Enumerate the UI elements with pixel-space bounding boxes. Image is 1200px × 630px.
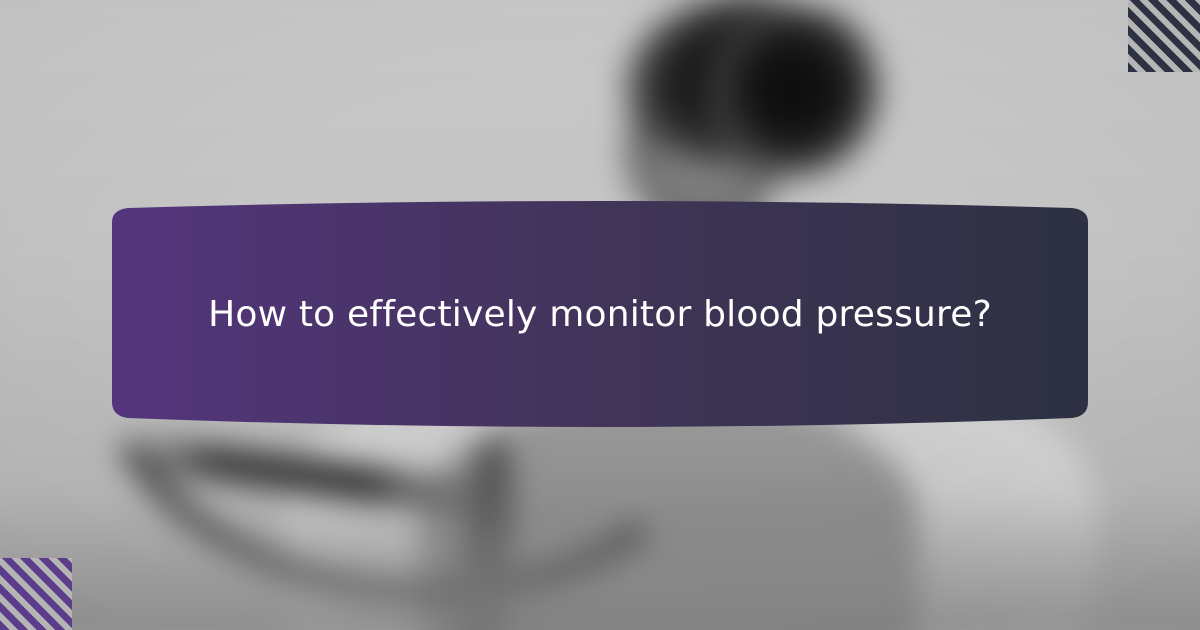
corner-bracket-top-right — [1000, 0, 1200, 200]
page-title: How to effectively monitor blood pressur… — [96, 196, 1104, 432]
corner-hatch-bottom-left — [0, 558, 72, 630]
corner-bracket-bottom-left — [0, 430, 200, 630]
corner-hatch-top-right — [1128, 0, 1200, 72]
social-card: How to effectively monitor blood pressur… — [0, 0, 1200, 630]
title-banner: How to effectively monitor blood pressur… — [96, 196, 1104, 432]
